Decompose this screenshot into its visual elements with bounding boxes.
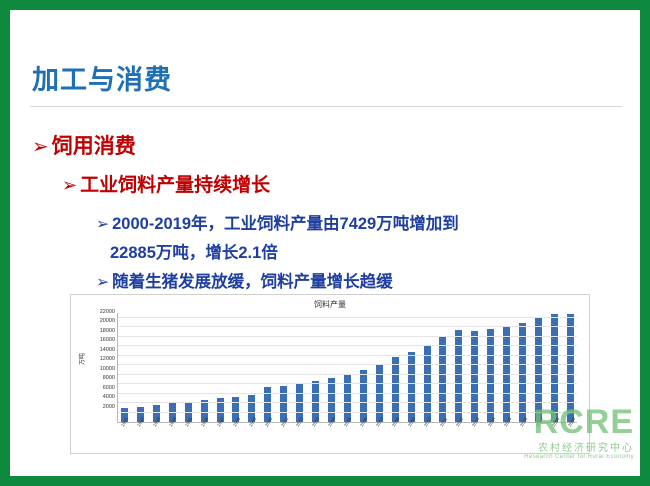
- chart-y-tick: 22000: [100, 309, 115, 315]
- chart-bar: [551, 314, 558, 422]
- chart-y-tick: 8000: [103, 375, 115, 381]
- chart-plot-area: 2000400060008000100001200014000160001800…: [117, 313, 577, 423]
- chart-gridline: [118, 364, 577, 365]
- chart-gridline: [118, 402, 577, 403]
- chart-y-tick: 14000: [100, 347, 115, 353]
- slide: 加工与消费 ➢饲用消费 ➢工业饲料产量持续增长 ➢2000-2019年，工业饲料…: [10, 10, 640, 476]
- chart-bar: [344, 374, 351, 422]
- chart-gridline: [118, 326, 577, 327]
- chart-y-tick: 12000: [100, 356, 115, 362]
- bullet-level2: ➢工业饲料产量持续增长: [62, 170, 270, 197]
- bullet-level3: ➢2000-2019年，工业饲料产量由7429万吨增加到 22885万吨，增长2…: [96, 210, 616, 267]
- title-divider: [30, 106, 622, 107]
- chart-y-tick: 10000: [100, 366, 115, 372]
- bullet-arrow-icon: ➢: [32, 136, 49, 158]
- chart-y-axis-label: 万吨: [77, 353, 86, 365]
- chart-gridline: [118, 336, 577, 337]
- chart-gridline: [118, 355, 577, 356]
- bullet-level3-line1: 2000-2019年，工业饲料产量由7429万吨增加到: [112, 215, 459, 233]
- chart-gridline: [118, 374, 577, 375]
- chart-y-tick: 20000: [100, 318, 115, 324]
- chart-bar: [455, 330, 462, 422]
- bullet-arrow-icon: ➢: [62, 175, 77, 195]
- chart-gridline: [118, 383, 577, 384]
- bullet-level3-line2: 22885万吨，增长2.1倍: [110, 239, 278, 267]
- chart-bar: [503, 327, 510, 422]
- chart-y-tick: 2000: [103, 404, 115, 410]
- watermark-english: Research Center for Rural Economy: [524, 454, 634, 460]
- chart-gridline: [118, 317, 577, 318]
- chart-bar: [360, 370, 367, 422]
- bullet-arrow-icon: ➢: [96, 216, 109, 233]
- chart-y-tick: 18000: [100, 328, 115, 334]
- bullet-arrow-icon: ➢: [96, 274, 109, 291]
- bullet-level2-label: 工业饲料产量持续增长: [80, 175, 270, 196]
- bullet-level1: ➢饲用消费: [32, 130, 136, 160]
- chart-gridline: [118, 345, 577, 346]
- bullet-level4-label: 随着生猪发展放缓，饲料产量增长趋缓: [112, 273, 393, 291]
- chart-y-tick: 16000: [100, 337, 115, 343]
- chart-y-tick: 4000: [103, 394, 115, 400]
- chart-bar: [535, 317, 542, 422]
- feed-output-chart: 饲料产量 万吨 20004000600080001000012000140001…: [70, 294, 590, 454]
- chart-y-tick: 6000: [103, 385, 115, 391]
- bullet-level1-label: 饲用消费: [52, 135, 136, 158]
- chart-bar: [439, 336, 446, 422]
- chart-gridline: [118, 393, 577, 394]
- chart-bar: [519, 323, 526, 422]
- chart-gridline: [118, 412, 577, 413]
- bullet-level4: ➢随着生猪发展放缓，饲料产量增长趋缓: [96, 268, 393, 292]
- page-title: 加工与消费: [32, 58, 172, 97]
- chart-bar: [487, 329, 494, 422]
- chart-x-axis-labels: 1991199219931994199519961997199819992000…: [117, 425, 577, 449]
- chart-bar: [567, 314, 574, 422]
- chart-bars: [118, 313, 577, 422]
- chart-title: 饲料产量: [71, 299, 589, 310]
